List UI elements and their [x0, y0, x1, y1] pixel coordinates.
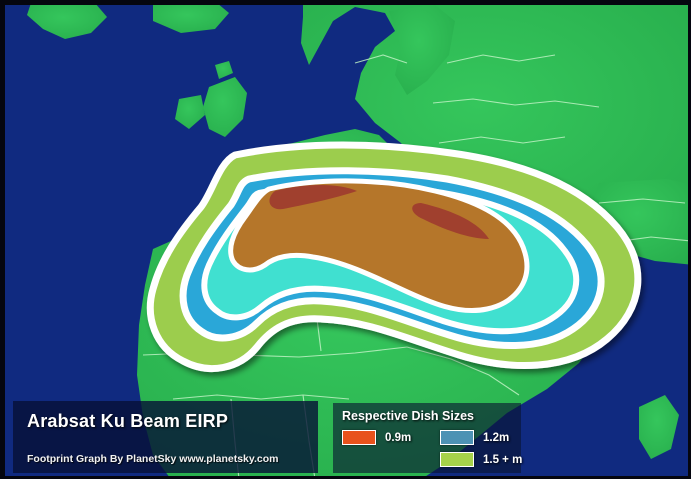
legend-label-0-9m: 0.9m — [385, 432, 411, 444]
legend-item-1-2m: 1.2m — [440, 430, 509, 445]
footprint-map-figure: Arabsat Ku Beam EIRP Footprint Graph By … — [0, 0, 691, 479]
legend-item-0-9m: 0.9m — [342, 430, 411, 445]
legend-label-1-2m: 1.2m — [483, 432, 509, 444]
page-title: Arabsat Ku Beam EIRP — [27, 410, 318, 432]
legend-panel: Respective Dish Sizes 0.9m 1.2m 1.5 + m — [333, 403, 521, 473]
legend-swatch-0-9m — [342, 430, 376, 445]
legend-swatch-1-2m — [440, 430, 474, 445]
legend-heading: Respective Dish Sizes — [342, 409, 474, 423]
title-panel: Arabsat Ku Beam EIRP Footprint Graph By … — [13, 401, 318, 473]
legend-swatch-1-5m — [440, 452, 474, 467]
legend-item-1-5m: 1.5 + m — [440, 452, 522, 467]
legend-label-1-5m: 1.5 + m — [483, 454, 522, 466]
credit-line: Footprint Graph By PlanetSky www.planets… — [27, 453, 278, 465]
